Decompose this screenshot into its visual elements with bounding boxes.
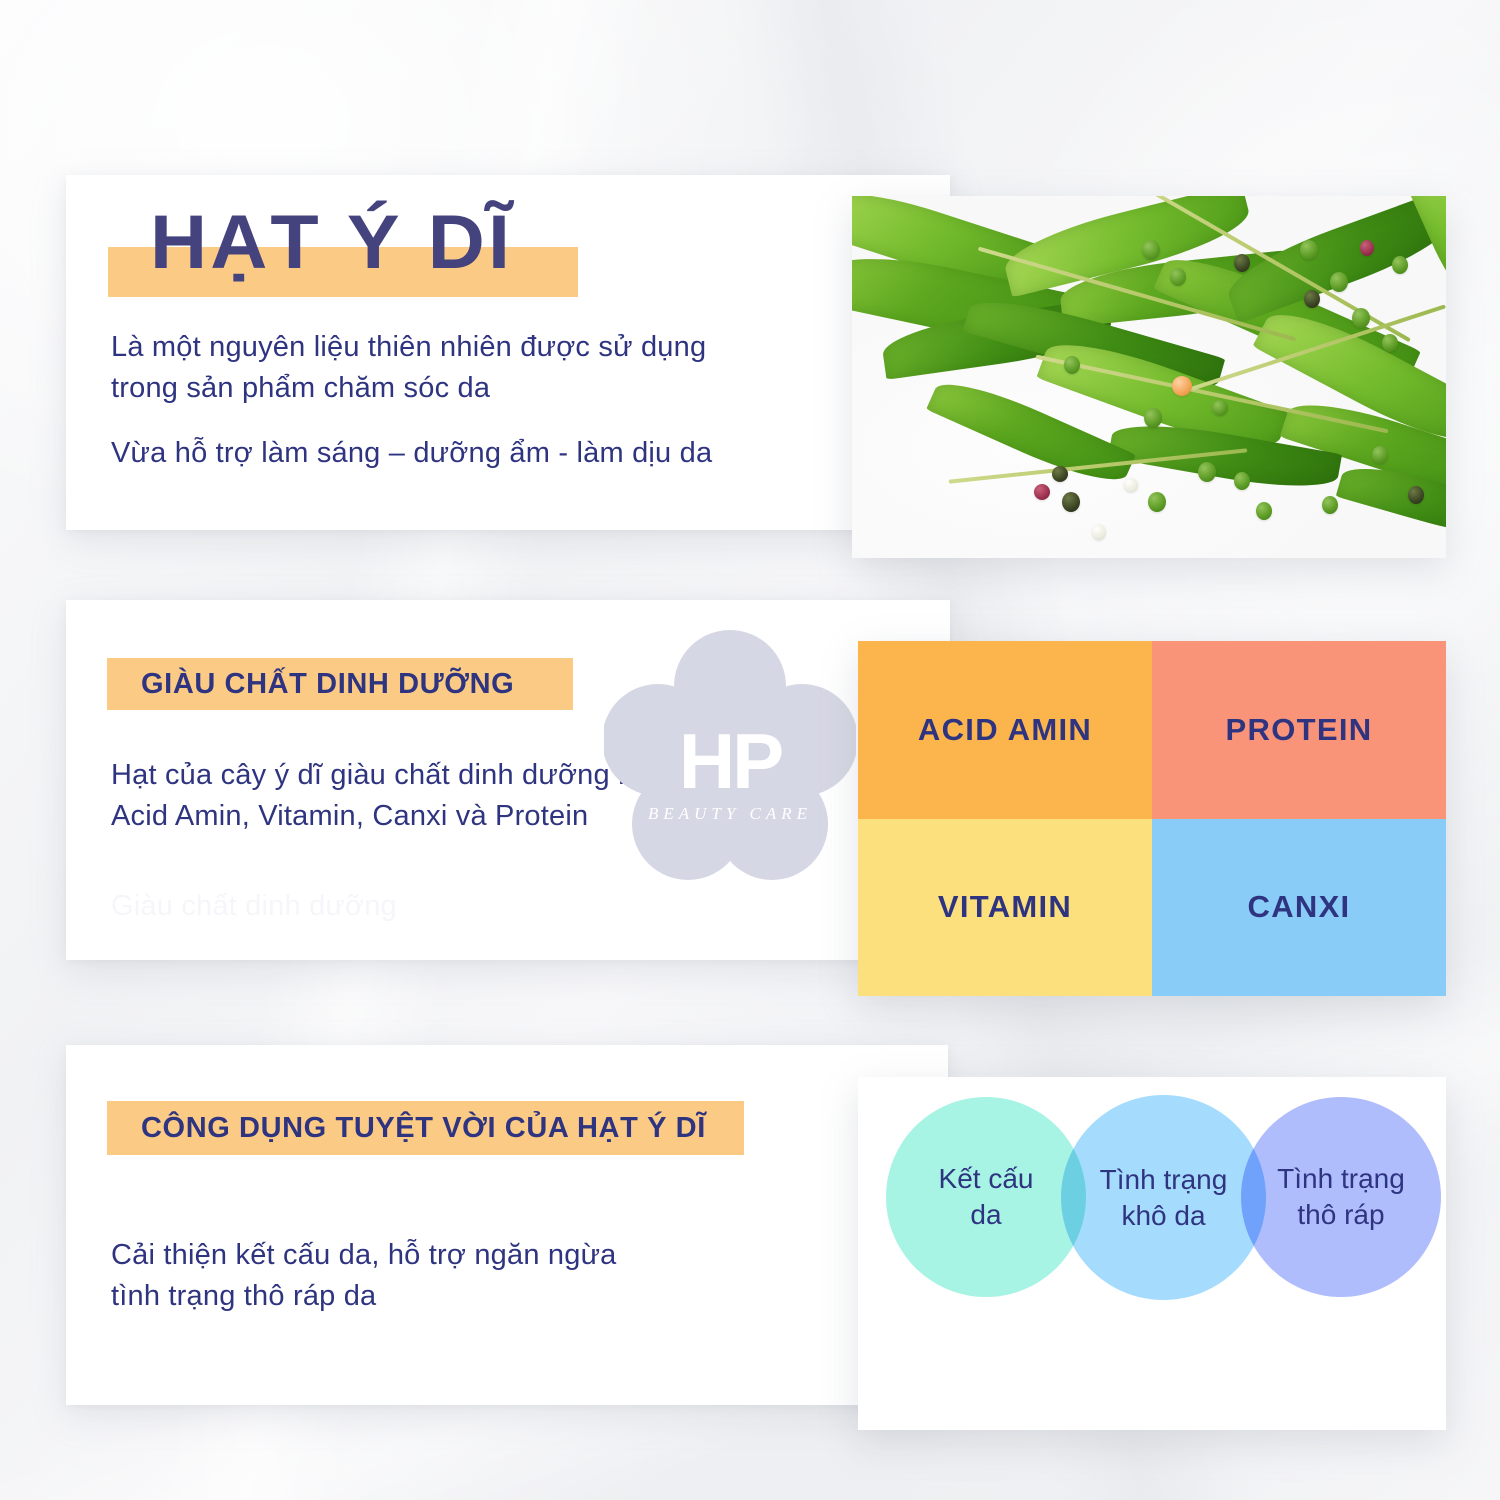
page-title: HẠT Ý DĨ <box>108 197 628 307</box>
nutrient-block-vitamin: VITAMIN <box>858 819 1152 997</box>
venn-circle-tinh-trang-kho-da: Tình trạng khô da <box>1061 1095 1266 1300</box>
intro-paragraph-2: Vừa hỗ trợ làm sáng – dưỡng ẩm - làm dịu… <box>111 433 891 474</box>
nutrition-chip-label: GIÀU CHẤT DINH DƯỠNG <box>107 668 514 701</box>
intro-paragraph-1: Là một nguyên liệu thiên nhiên được sử d… <box>111 327 891 409</box>
nutrition-paragraph: Hạt của cây ý dĩ giàu chất dinh dưỡng nh… <box>111 755 891 837</box>
benefits-venn-card: Kết cấu da Tình trạng khô da Tình trạng … <box>858 1077 1446 1430</box>
nutrient-block-canxi: CANXI <box>1152 819 1446 997</box>
nutrient-block-label: VITAMIN <box>938 889 1072 925</box>
benefits-paragraph: Cải thiện kết cấu da, hỗ trợ ngăn ngừa t… <box>111 1235 901 1317</box>
plant-photo-card <box>852 196 1446 558</box>
benefits-text-card: CÔNG DỤNG TUYỆT VỜI CỦA HẠT Ý DĨ Cải thi… <box>66 1045 948 1405</box>
nutrient-block-label: ACID AMIN <box>918 712 1092 748</box>
venn-circle-ket-cau-da: Kết cấu da <box>886 1097 1086 1297</box>
nutrient-block-protein: PROTEIN <box>1152 641 1446 819</box>
title-label: HẠT Ý DĨ <box>150 205 513 281</box>
nutrition-ghost-text: Giàu chất dinh dưỡng <box>111 890 397 923</box>
nutrient-block-label: PROTEIN <box>1226 712 1373 748</box>
nutrient-block-acid-amin: ACID AMIN <box>858 641 1152 819</box>
nutrient-blocks-card: ACID AMIN PROTEIN VITAMIN CANXI <box>858 641 1446 996</box>
benefits-chip-label: CÔNG DỤNG TUYỆT VỜI CỦA HẠT Ý DĨ <box>107 1112 706 1145</box>
intro-text-card: HẠT Ý DĨ Là một nguyên liệu thiên nhiên … <box>66 175 950 530</box>
nutrition-chip: GIÀU CHẤT DINH DƯỠNG <box>107 658 573 710</box>
nutrition-text-card: GIÀU CHẤT DINH DƯỠNG Hạt của cây ý dĩ gi… <box>66 600 950 960</box>
venn-circle-tinh-trang-tho-rap: Tình trạng thô ráp <box>1241 1097 1441 1297</box>
benefits-chip: CÔNG DỤNG TUYỆT VỜI CỦA HẠT Ý DĨ <box>107 1101 744 1155</box>
job-tears-plant-photo <box>852 196 1446 558</box>
nutrient-block-label: CANXI <box>1248 889 1351 925</box>
